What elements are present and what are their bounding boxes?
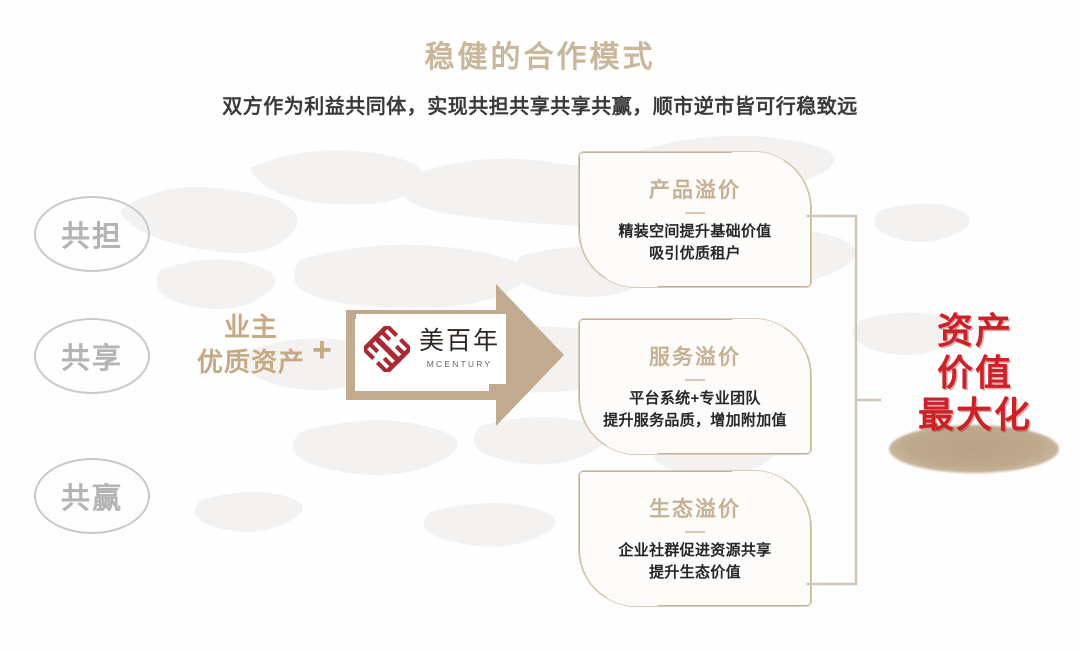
card-line-2: 提升生态价值 <box>618 562 771 585</box>
slide-canvas: 稳健的合作模式 双方作为利益共同体，实现共担共享共享共赢，顺市逆市皆可行稳致远 … <box>0 0 1080 652</box>
card-line-1: 平台系统+专业团队 <box>603 388 787 411</box>
result-line-2: 价值 <box>900 352 1050 394</box>
value-card-product-premium[interactable]: 产品溢价 精装空间提升基础价值 吸引优质租户 <box>578 151 812 288</box>
card-divider <box>685 379 705 381</box>
card-divider <box>685 531 705 533</box>
card-line-2: 提升服务品质，增加附加值 <box>603 410 787 433</box>
owner-line-2: 优质资产 <box>186 345 316 380</box>
badge-shared-responsibility[interactable]: 共担 <box>34 196 150 272</box>
badge-win-win[interactable]: 共赢 <box>34 458 150 534</box>
result-line-3: 最大化 <box>900 394 1050 436</box>
brand-name-en: MCENTURY <box>427 359 493 369</box>
badge-shared-benefit[interactable]: 共享 <box>34 318 150 394</box>
plus-sign-icon: + <box>312 333 332 367</box>
card-title: 生态溢价 <box>649 493 741 523</box>
result-asset-value-maximization: 资产 价值 最大化 <box>900 310 1050 435</box>
card-title: 服务溢价 <box>649 341 741 371</box>
result-line-1: 资产 <box>900 310 1050 352</box>
brand-name-cn: 美百年 <box>419 329 500 355</box>
card-divider <box>685 212 705 214</box>
card-line-1: 企业社群促进资源共享 <box>618 540 771 563</box>
card-body: 平台系统+专业团队 提升服务品质，增加附加值 <box>603 388 787 433</box>
brand-wordmark: 美百年 MCENTURY <box>419 329 500 368</box>
slide-header: 稳健的合作模式 双方作为利益共同体，实现共担共享共享共赢，顺市逆市皆可行稳致远 <box>0 0 1080 119</box>
badge-label: 共享 <box>61 335 123 377</box>
card-line-2: 吸引优质租户 <box>618 243 771 266</box>
mcentury-emblem-icon <box>364 326 410 372</box>
brand-logo: 美百年 MCENTURY <box>356 314 506 384</box>
page-subtitle: 双方作为利益共同体，实现共担共享共享共赢，顺市逆市皆可行稳致远 <box>0 90 1080 119</box>
page-title: 稳健的合作模式 <box>0 40 1080 76</box>
brand-arrow: 美百年 MCENTURY <box>346 282 564 428</box>
card-body: 企业社群促进资源共享 提升生态价值 <box>618 540 771 585</box>
owner-line-1: 业主 <box>186 310 316 345</box>
card-line-1: 精装空间提升基础价值 <box>618 221 771 244</box>
owner-asset-label: 业主 优质资产 <box>186 310 316 380</box>
badge-label: 共赢 <box>61 475 123 517</box>
card-title: 产品溢价 <box>649 174 741 204</box>
value-card-ecosystem-premium[interactable]: 生态溢价 企业社群促进资源共享 提升生态价值 <box>578 470 812 607</box>
badge-label: 共担 <box>61 213 123 255</box>
card-body: 精装空间提升基础价值 吸引优质租户 <box>618 221 771 266</box>
value-card-service-premium[interactable]: 服务溢价 平台系统+专业团队 提升服务品质，增加附加值 <box>578 318 812 455</box>
